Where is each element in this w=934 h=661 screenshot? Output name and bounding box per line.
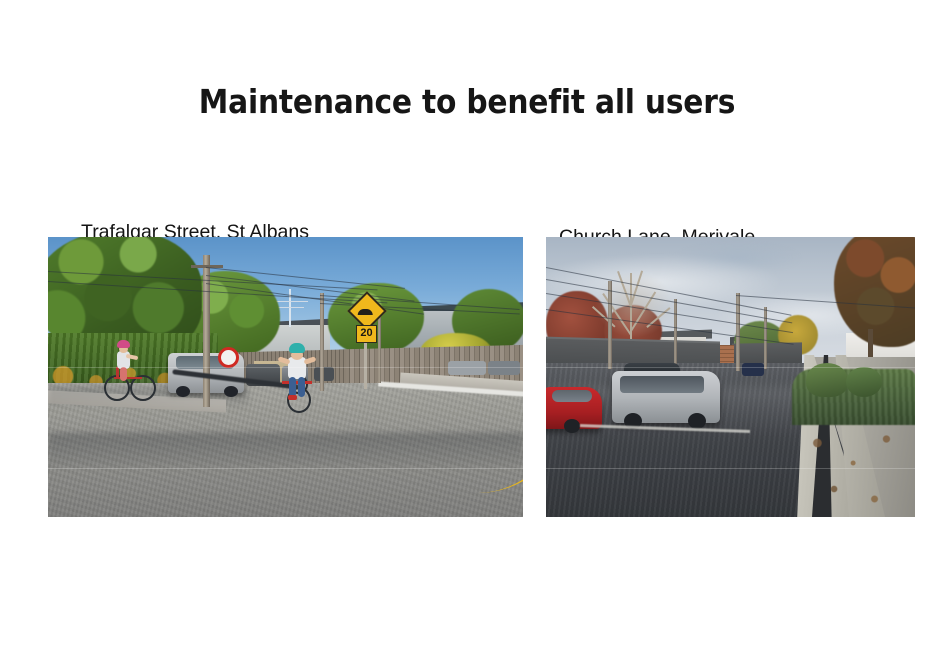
sign-post bbox=[364, 341, 367, 389]
slide-canvas: Maintenance to benefit all users Trafalg… bbox=[0, 0, 934, 661]
power-pole bbox=[608, 281, 612, 369]
car-wheel bbox=[564, 419, 580, 433]
fallen-leaves bbox=[796, 417, 915, 517]
bicycle-seatpost bbox=[116, 367, 119, 379]
shrub bbox=[846, 367, 882, 397]
power-pole bbox=[764, 307, 767, 369]
rider-helmet bbox=[289, 343, 305, 353]
power-pole bbox=[378, 311, 381, 383]
suv-wheel bbox=[176, 386, 190, 397]
photo-trafalgar-street: 20 bbox=[48, 237, 523, 517]
parked-car bbox=[314, 367, 334, 381]
tv-antenna-bar bbox=[276, 307, 304, 308]
power-pole bbox=[203, 255, 210, 407]
page-title: Maintenance to benefit all users bbox=[0, 82, 934, 121]
rider-helmet bbox=[117, 340, 130, 348]
image-band-artifact bbox=[546, 367, 915, 368]
power-pole bbox=[674, 299, 677, 369]
rider-leg bbox=[120, 367, 127, 381]
tree-branch bbox=[630, 270, 643, 305]
road-shadow bbox=[48, 433, 523, 467]
suv-wheel bbox=[224, 386, 238, 397]
distant-car bbox=[742, 363, 764, 376]
speed-limit-roundel-sign-icon bbox=[218, 347, 239, 368]
parked-car bbox=[448, 361, 486, 375]
speed-hump-glyph bbox=[358, 309, 373, 315]
image-band-artifact bbox=[48, 468, 523, 469]
bicycle-handlebar bbox=[282, 381, 312, 384]
suv-wheel bbox=[688, 413, 706, 429]
suv-window bbox=[620, 376, 704, 393]
shrub bbox=[806, 363, 848, 397]
photo-church-lane bbox=[546, 237, 915, 517]
rider-leg bbox=[289, 377, 296, 397]
speed-limit-plate: 20 bbox=[356, 325, 377, 343]
parked-car bbox=[488, 361, 520, 375]
car-window bbox=[552, 390, 592, 402]
image-band-artifact bbox=[546, 468, 915, 469]
rider-leg bbox=[298, 377, 305, 397]
image-band-artifact bbox=[48, 367, 523, 368]
rider-shoe bbox=[288, 395, 297, 400]
power-pole bbox=[320, 293, 324, 391]
